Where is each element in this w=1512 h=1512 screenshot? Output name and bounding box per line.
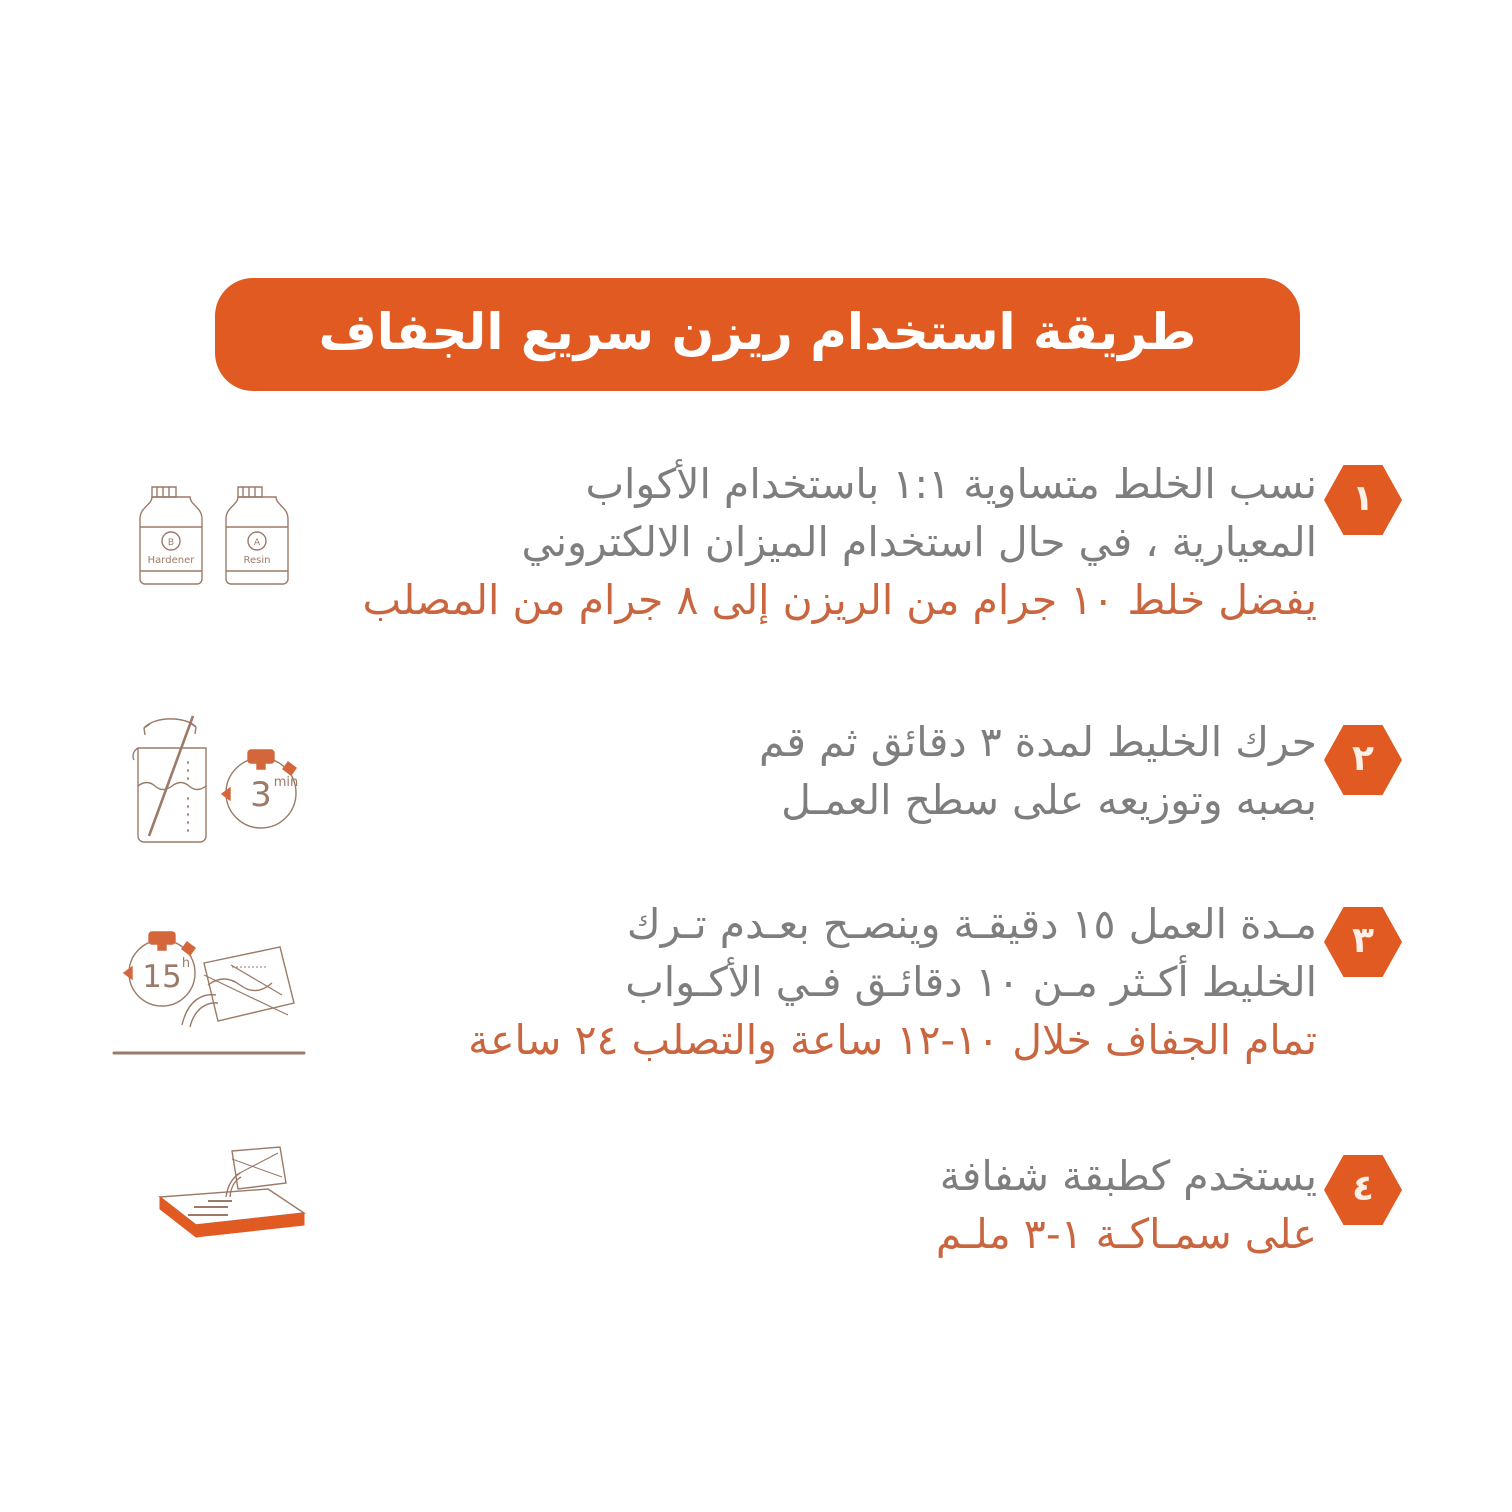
step-number-label: ٤ (1352, 1171, 1374, 1210)
bottle-letter-left: B (168, 538, 174, 548)
step-line: نسب الخلط متساوية ١:١ باستخدام الأكواب (187, 455, 1317, 513)
step-line-accent: على سمـاكـة ١-٣ ملـم (777, 1205, 1317, 1263)
step-number-badge-2: ٢ (1324, 725, 1402, 795)
page-title: طريقة استخدام ريزن سريع الجفاف (319, 307, 1197, 357)
timer-15h-panel-icon: 15 h (112, 925, 317, 1075)
timer-unit-label: h (182, 956, 190, 971)
coated-panel-icon (108, 1145, 323, 1285)
step-text-block-1: نسب الخلط متساوية ١:١ باستخدام الأكواب ا… (187, 455, 1317, 629)
step-line: بصبه وتوزيعه على سطح العمـل (577, 771, 1317, 829)
bottle-name-left: Hardener (148, 555, 196, 566)
step-number-label: ١ (1352, 481, 1374, 520)
stirring-cup-timer-icon: 3 min (118, 700, 313, 860)
step-line: حرك الخليط لمدة ٣ دقائق ثم قم (577, 713, 1317, 771)
timer-unit-label: min (274, 775, 299, 790)
step-line: يستخدم كطبقة شفافة (777, 1147, 1317, 1205)
two-bottles-resin-hardener-icon: B Hardener A Resin (130, 465, 300, 595)
step-number-label: ٣ (1352, 923, 1374, 962)
bottle-name-right: Resin (244, 555, 271, 566)
step-line: المعيارية ، في حال استخدام الميزان الالك… (187, 513, 1317, 571)
infographic-page: طريقة استخدام ريزن سريع الجفاف ١ نسب الخ… (0, 0, 1512, 1512)
title-banner: طريقة استخدام ريزن سريع الجفاف (215, 278, 1300, 391)
step-line-accent: يفضل خلط ١٠ جرام من الريزن إلى ٨ جرام من… (187, 571, 1317, 629)
timer-value-label: 15 (142, 959, 181, 995)
step-number-badge-4: ٤ (1324, 1155, 1402, 1225)
step-text-block-4: يستخدم كطبقة شفافة على سمـاكـة ١-٣ ملـم (777, 1147, 1317, 1263)
step-number-badge-1: ١ (1324, 465, 1402, 535)
timer-value-label: 3 (250, 775, 272, 815)
step-line: مـدة العمل ١٥ دقيقـة وينصـح بعـدم تـرك (187, 895, 1317, 953)
step-line-accent: تمام الجفاف خلال ١٠-١٢ ساعة والتصلب ٢٤ س… (187, 1011, 1317, 1069)
bottle-letter-right: A (254, 538, 261, 548)
step-number-label: ٢ (1352, 741, 1374, 780)
step-text-block-3: مـدة العمل ١٥ دقيقـة وينصـح بعـدم تـرك ا… (187, 895, 1317, 1069)
step-line: الخليط أكـثر مـن ١٠ دقائـق فـي الأكـواب (187, 953, 1317, 1011)
step-text-block-2: حرك الخليط لمدة ٣ دقائق ثم قم بصبه وتوزي… (577, 713, 1317, 829)
step-number-badge-3: ٣ (1324, 907, 1402, 977)
